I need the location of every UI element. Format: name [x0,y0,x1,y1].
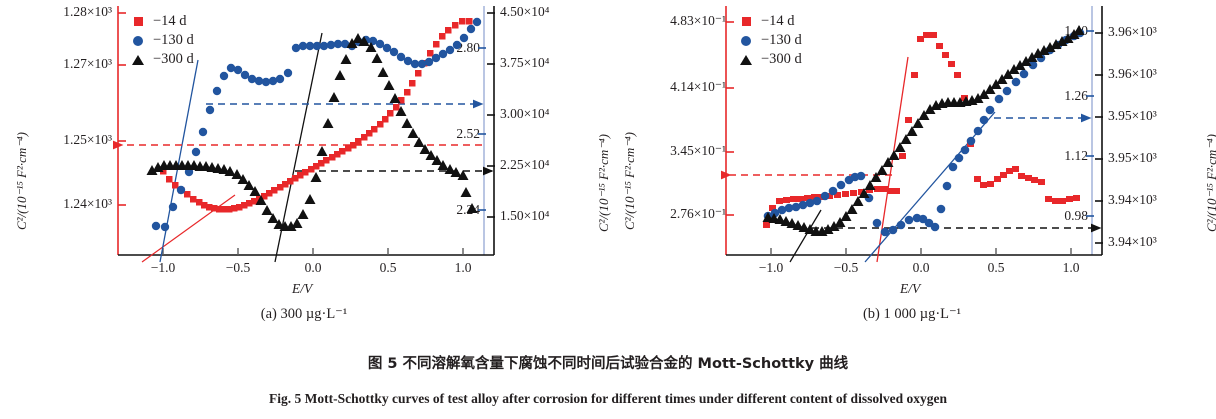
legend-item-300d[interactable]: −300 d [130,50,194,69]
panel-a-xtick-1: −0.5 [213,260,263,276]
panel-b-plot [608,0,1216,300]
panel-b-xtick-3: 0.5 [971,260,1021,276]
panel-a-ticks-left [118,13,126,205]
panel-b-subcaption: (b) 1 000 µg·L⁻¹ [608,306,1216,323]
legend-label-300d: −300 d [153,51,194,68]
panel-a-xtick-2: 0.0 [288,260,338,276]
panel-b-ticks-inner [1086,31,1094,216]
legend-label-14d: −14 d [153,13,187,30]
panel-a-xlabel: E/V [292,281,312,297]
figure-caption-cn: 图 5 不同溶解氧含量下腐蚀不同时间后试验合金的 Mott-Schottky 曲… [0,352,1216,373]
panel-b-xlabel: E/V [900,281,920,297]
panel-b-xtick-1: −0.5 [821,260,871,276]
legend-item-130d-b[interactable]: −130 d [738,31,802,50]
panel-a-subcaption: (a) 300 µg·L⁻¹ [0,306,608,323]
legend-circle-icon [130,36,146,46]
legend-item-14d-b[interactable]: −14 d [738,12,802,31]
figure-mott-schottky: C²/(10⁻¹⁵ F²·cm⁻⁴) 1.28×10³ 1.27×10³ 1.2… [0,0,1216,419]
panel-a-plot [0,0,608,300]
panel-b-ticks-bottom [771,248,1071,255]
legend-circle-icon [738,36,754,46]
legend-square-icon [738,17,754,26]
panel-a-legend: −14 d −130 d −300 d [130,12,194,69]
legend-label-300d-b: −300 d [761,51,802,68]
panel-a-ticks-bottom [163,248,463,255]
legend-triangle-icon [738,55,754,65]
panel-b-ticks-left [726,22,734,215]
panel-a-xtick-3: 0.5 [363,260,413,276]
panel-b-xtick-4: 1.0 [1046,260,1096,276]
legend-label-14d-b: −14 d [761,13,795,30]
legend-label-130d: −130 d [153,32,194,49]
panel-a-xtick-0: −1.0 [138,260,188,276]
figure-caption-en: Fig. 5 Mott-Schottky curves of test allo… [0,391,1216,407]
panel-b-1000ug: C²/(10⁻¹⁵ F²·cm⁻⁴) 4.83×10⁻¹ 4.14×10⁻¹ 3… [608,0,1216,340]
panel-b-xtick-0: −1.0 [746,260,796,276]
panel-b-legend: −14 d −130 d −300 d [738,12,802,69]
legend-square-icon [130,17,146,26]
legend-triangle-icon [130,55,146,65]
legend-label-130d-b: −130 d [761,32,802,49]
panel-a-fitline-blue [160,60,198,262]
panel-b-xtick-2: 0.0 [896,260,946,276]
panel-a-xtick-4: 1.0 [438,260,488,276]
legend-item-130d[interactable]: −130 d [130,31,194,50]
legend-item-14d[interactable]: −14 d [130,12,194,31]
panel-a-300ug: C²/(10⁻¹⁵ F²·cm⁻⁴) 1.28×10³ 1.27×10³ 1.2… [0,0,608,340]
legend-item-300d-b[interactable]: −300 d [738,50,802,69]
